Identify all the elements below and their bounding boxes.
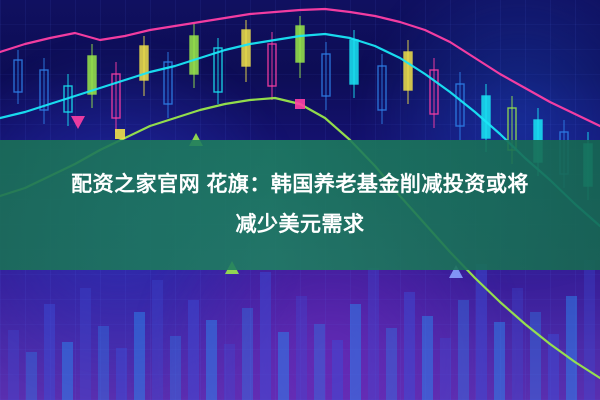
headline-line-2: 减少美元需求 <box>236 205 365 245</box>
screenshot-root: 配资之家官网 花旗：韩国养老基金削减投资或将 减少美元需求 <box>0 0 600 400</box>
chart-bars-group <box>8 260 595 400</box>
headline-banner: 配资之家官网 花旗：韩国养老基金削减投资或将 减少美元需求 <box>0 140 600 270</box>
headline-line-1: 配资之家官网 花旗：韩国养老基金削减投资或将 <box>71 165 529 205</box>
